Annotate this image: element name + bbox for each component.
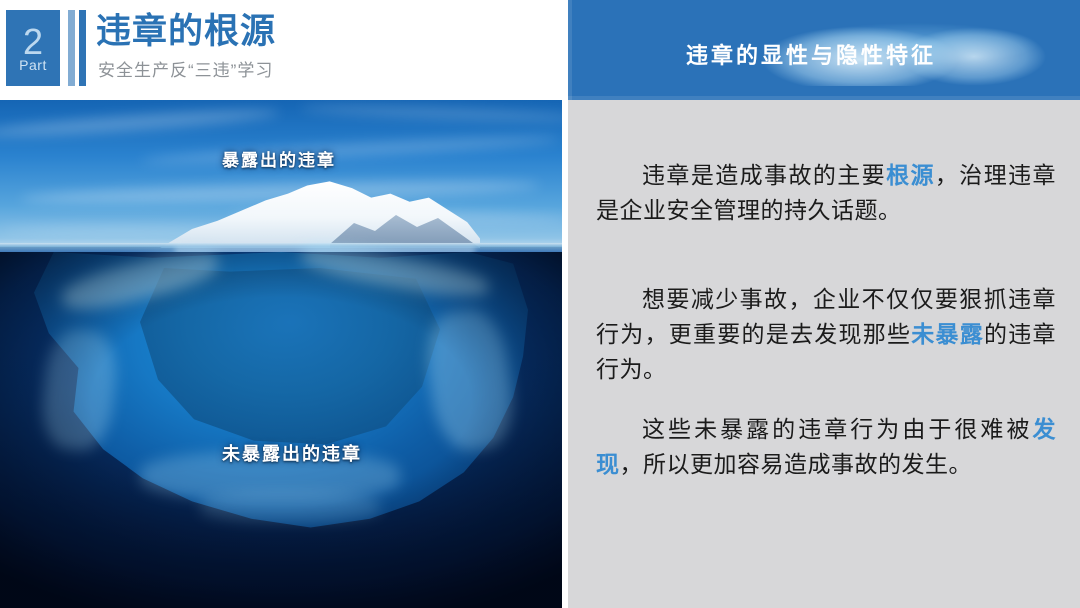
label-exposed-violations: 暴露出的违章: [222, 146, 336, 171]
left-column: 2 Part 违章的根源 安全生产反“三违”学习: [0, 0, 562, 608]
body-text-run: ，所以更加容易造成事故的发生。: [620, 451, 973, 477]
highlighted-term: 未暴露: [911, 321, 984, 347]
iceberg-image: 暴露出的违章 未暴露出的违章: [0, 100, 562, 608]
body-paragraph: 想要减少事故，企业不仅仅要狠抓违章行为，更重要的是去发现那些未暴露的违章行为。: [596, 282, 1056, 387]
part-badge: 2 Part: [6, 10, 60, 86]
slide-root: 2 Part 违章的根源 安全生产反“三违”学习: [0, 0, 1080, 608]
body-paragraph: 违章是造成事故的主要根源，治理违章是企业安全管理的持久话题。: [596, 158, 1056, 228]
accent-bar-thin: [68, 10, 75, 86]
label-hidden-violations: 未暴露出的违章: [222, 440, 362, 466]
faded-overlay: [758, 16, 1058, 86]
water-vignette: [0, 252, 562, 608]
right-header: 违章的显性与隐性特征: [568, 0, 1080, 100]
page-subtitle: 安全生产反“三违”学习: [98, 56, 273, 81]
right-column: 违章的显性与隐性特征 违章是造成事故的主要根源，治理违章是企业安全管理的持久话题…: [568, 0, 1080, 608]
part-number: 2: [23, 24, 43, 60]
left-header: 2 Part 违章的根源 安全生产反“三违”学习: [0, 0, 562, 100]
header-edge-highlight: [568, 0, 572, 100]
body-text-run: 这些未暴露的违章行为由于很难被: [642, 416, 1033, 442]
right-body: 违章是造成事故的主要根源，治理违章是企业安全管理的持久话题。 想要减少事故，企业…: [568, 100, 1080, 608]
right-header-inner: 违章的显性与隐性特征: [568, 0, 1080, 100]
page-title: 违章的根源: [96, 10, 276, 54]
body-text-run: 违章是造成事故的主要: [642, 162, 886, 188]
part-word-label: Part: [19, 58, 47, 72]
highlighted-term: 根源: [886, 162, 935, 188]
body-paragraph: 这些未暴露的违章行为由于很难被发现，所以更加容易造成事故的发生。: [596, 412, 1056, 482]
accent-bar-thick: [79, 10, 86, 86]
